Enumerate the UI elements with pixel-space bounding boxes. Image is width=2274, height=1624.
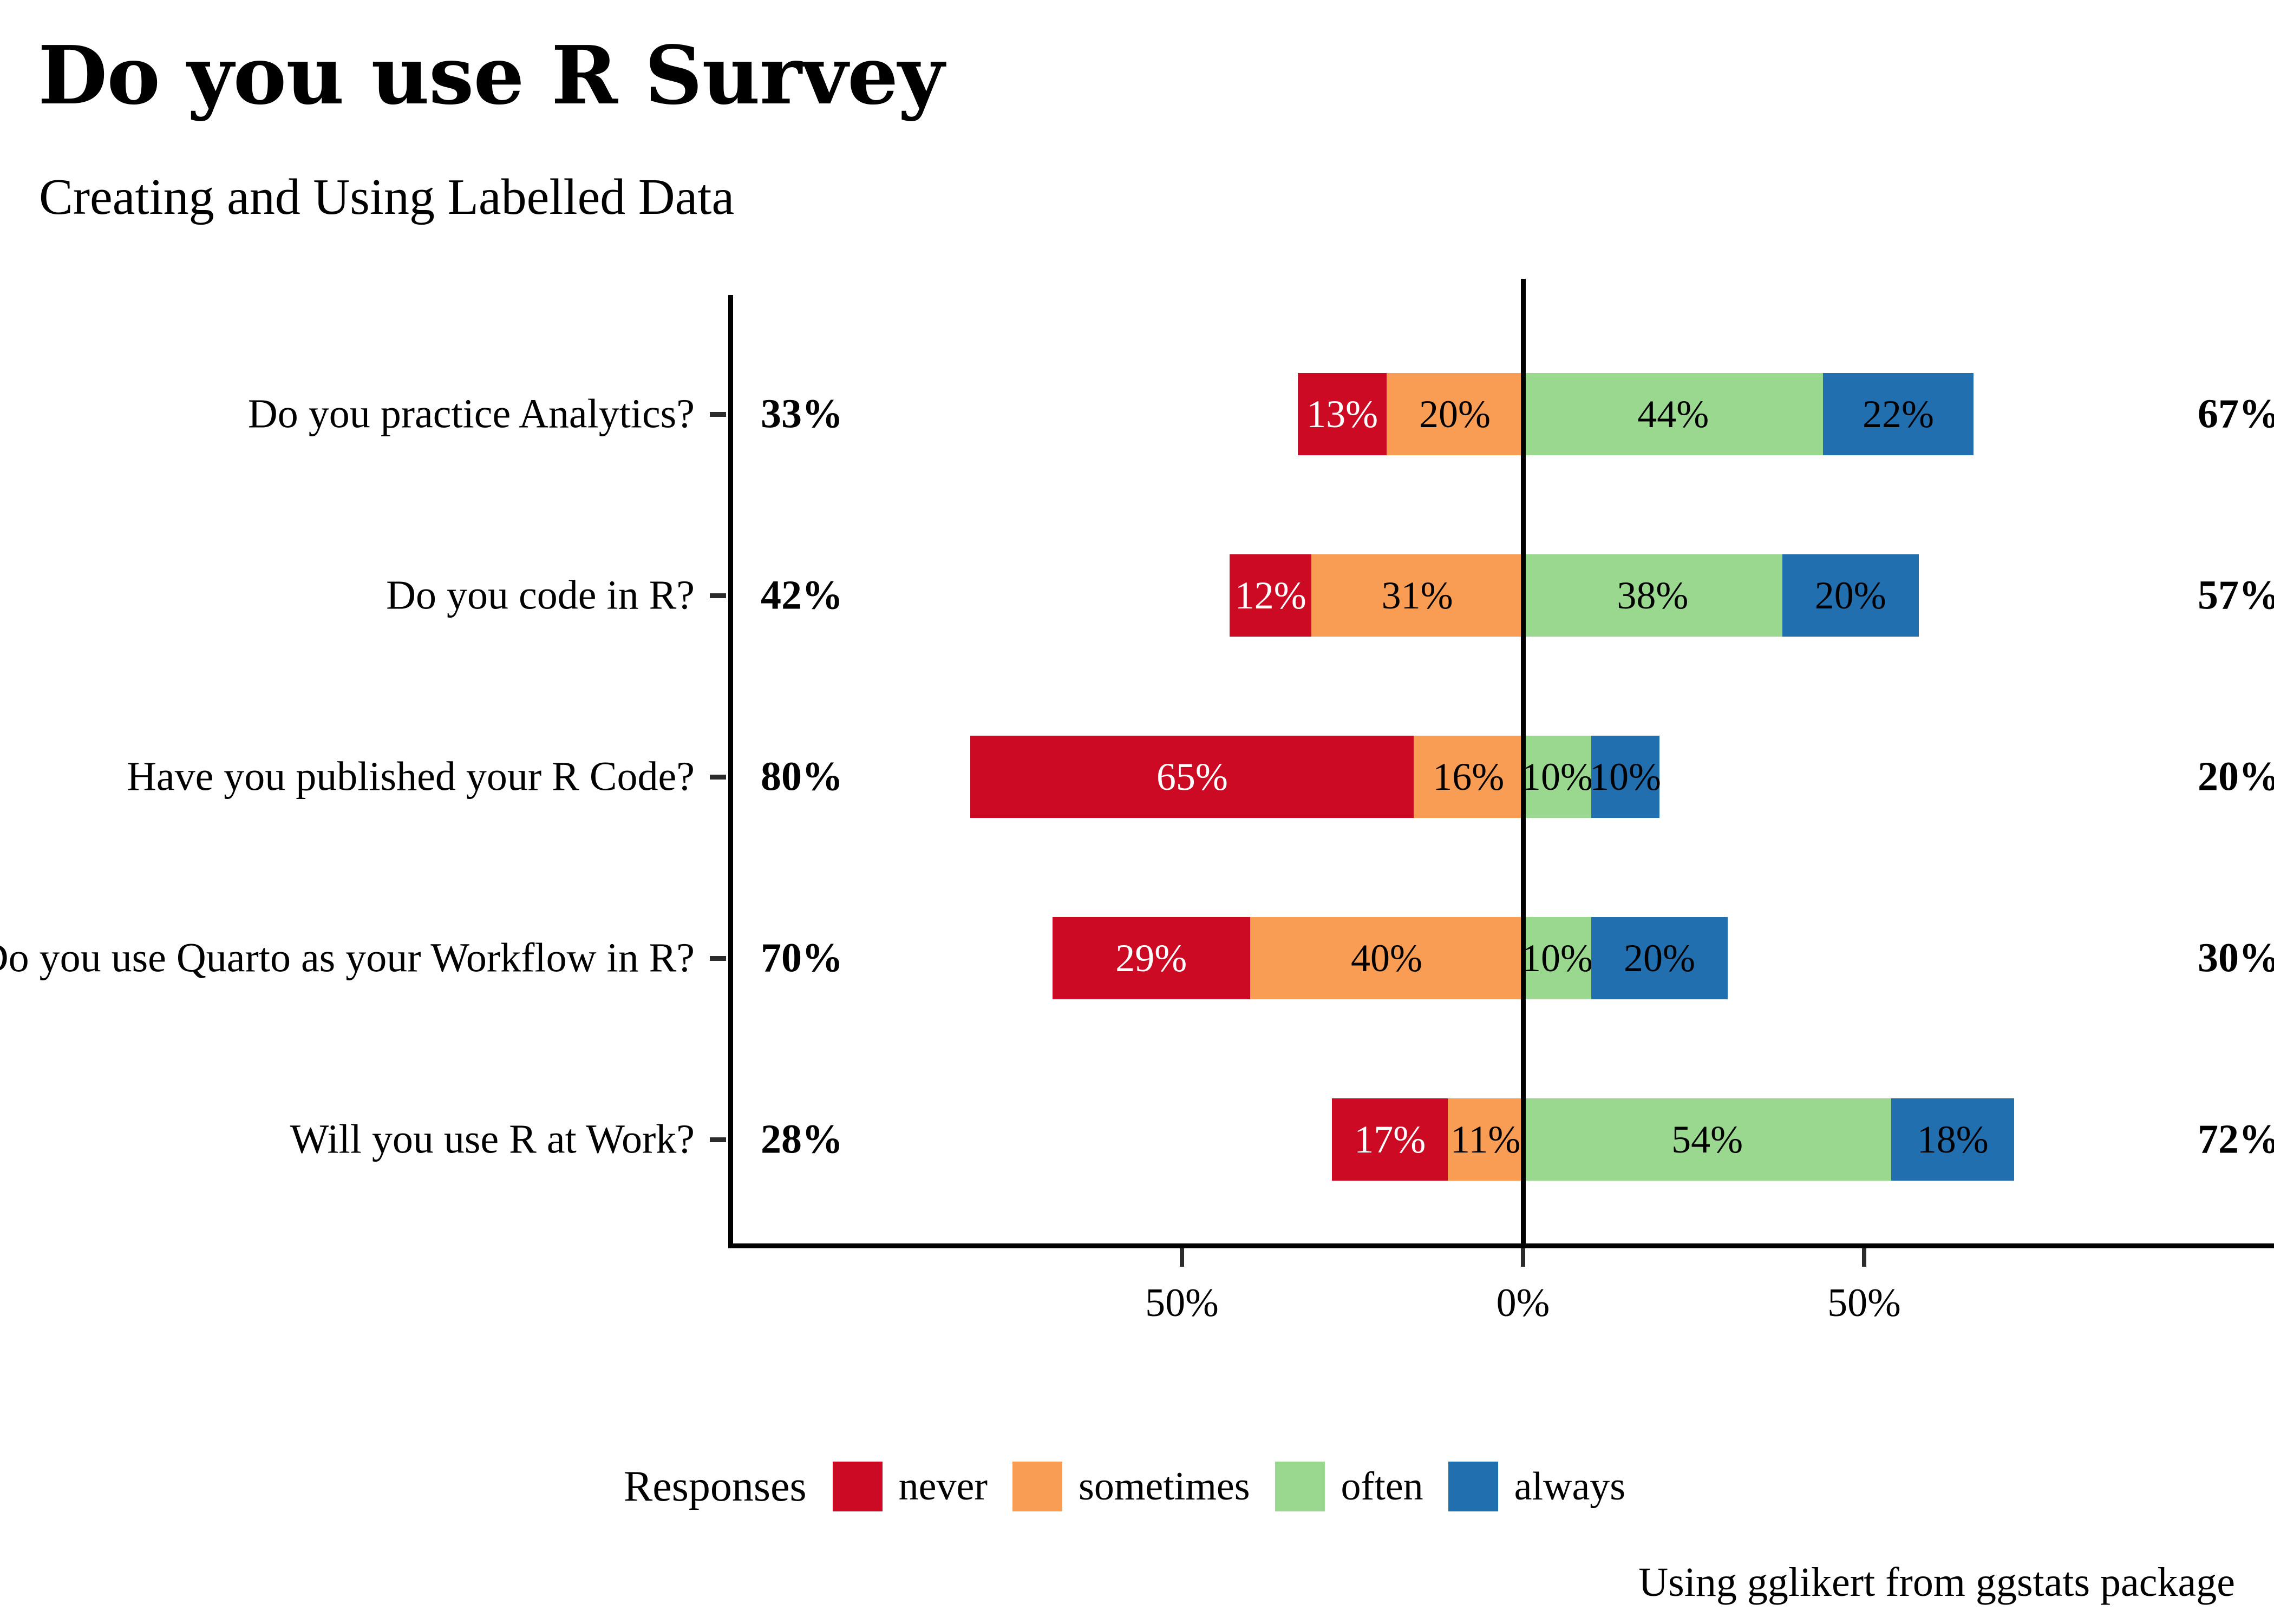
bar-segment-sometimes[interactable]: 20% [1387, 373, 1523, 455]
bar-segment-never[interactable]: 29% [1053, 917, 1250, 999]
y-axis-tick [710, 412, 726, 417]
legend-item-label: never [899, 1464, 988, 1510]
negative-total-label: 42% [761, 572, 843, 619]
x-axis-tick-label: 50% [1827, 1280, 1901, 1326]
page-subtitle: Creating and Using Labelled Data [39, 168, 734, 226]
bar-segment-often[interactable]: 38% [1523, 554, 1782, 637]
chart-legend: Responses neversometimesoftenalways [0, 1462, 2274, 1511]
legend-color-swatch [1448, 1462, 1498, 1511]
stacked-bar[interactable]: 17%11%54%18% [1332, 1098, 2014, 1181]
negative-total-label: 70% [761, 935, 843, 982]
stacked-bar[interactable]: 12%31%38%20% [1230, 554, 1919, 637]
bar-segment-never[interactable]: 65% [970, 736, 1414, 818]
x-axis-tick-label: 50% [1145, 1280, 1219, 1326]
bar-segment-always[interactable]: 18% [1891, 1098, 2014, 1181]
y-axis-line [728, 295, 733, 1248]
positive-total-label: 20% [2198, 754, 2274, 801]
positive-total-label: 30% [2198, 935, 2274, 982]
x-axis-tick-label: 0% [1497, 1280, 1550, 1326]
legend-item-always[interactable]: always [1448, 1462, 1626, 1511]
bar-segment-always[interactable]: 20% [1782, 554, 1919, 637]
positive-total-label: 67% [2198, 391, 2274, 438]
x-axis-tick [1862, 1248, 1866, 1267]
chart-caption: Using gglikert from ggstats package [1638, 1559, 2235, 1606]
y-axis-category-label: Will you use R at Work? [290, 1116, 695, 1163]
legend-color-swatch [1012, 1462, 1062, 1511]
bar-segment-sometimes[interactable]: 16% [1414, 736, 1523, 818]
x-axis-tick [1180, 1248, 1184, 1267]
page-title: Do you use R Survey [38, 28, 944, 122]
bar-segment-sometimes[interactable]: 40% [1250, 917, 1523, 999]
legend-item-often[interactable]: often [1275, 1462, 1423, 1511]
y-axis-category-label: Do you code in R? [386, 572, 695, 619]
bar-segment-often[interactable]: 54% [1523, 1098, 1891, 1181]
y-axis-tick [710, 775, 726, 780]
positive-total-label: 57% [2198, 572, 2274, 619]
bar-segment-often[interactable]: 10% [1523, 917, 1591, 999]
negative-total-label: 33% [761, 391, 843, 438]
legend-item-label: always [1514, 1464, 1626, 1510]
bar-segment-always[interactable]: 22% [1823, 373, 1973, 455]
legend-color-swatch [833, 1462, 883, 1511]
y-axis-tick [710, 1137, 726, 1142]
chart-panel: Do you practice Analytics?33%67%13%20%44… [728, 295, 2274, 1248]
negative-total-label: 80% [761, 754, 843, 801]
y-axis-category-label: Do you practice Analytics? [248, 391, 695, 438]
positive-total-label: 72% [2198, 1116, 2274, 1163]
stacked-bar[interactable]: 13%20%44%22% [1298, 373, 1973, 455]
stacked-bar[interactable]: 29%40%10%20% [1053, 917, 1728, 999]
legend-color-swatch [1275, 1462, 1325, 1511]
bar-segment-often[interactable]: 10% [1523, 736, 1591, 818]
legend-item-sometimes[interactable]: sometimes [1012, 1462, 1250, 1511]
stacked-bar[interactable]: 65%16%10%10% [970, 736, 1659, 818]
legend-item-never[interactable]: never [833, 1462, 988, 1511]
bar-segment-sometimes[interactable]: 11% [1448, 1098, 1523, 1181]
bar-segment-never[interactable]: 13% [1298, 373, 1387, 455]
bar-segment-never[interactable]: 12% [1230, 554, 1311, 637]
bar-segment-always[interactable]: 10% [1591, 736, 1659, 818]
bar-segment-often[interactable]: 44% [1523, 373, 1823, 455]
negative-total-label: 28% [761, 1116, 843, 1163]
x-axis-tick [1521, 1248, 1525, 1267]
y-axis-category-label: Have you published your R Code? [127, 754, 695, 801]
x-axis-line [728, 1243, 2274, 1248]
legend-item-label: sometimes [1079, 1464, 1250, 1510]
y-axis-tick [710, 593, 726, 598]
legend-title: Responses [624, 1462, 807, 1511]
bar-segment-never[interactable]: 17% [1332, 1098, 1448, 1181]
bar-segment-sometimes[interactable]: 31% [1311, 554, 1523, 637]
y-axis-tick [710, 956, 726, 961]
zero-reference-line [1521, 279, 1526, 1248]
y-axis-category-label: Do you use Quarto as your Workflow in R? [0, 935, 695, 982]
legend-items: neversometimesoftenalways [833, 1462, 1650, 1511]
bar-segment-always[interactable]: 20% [1591, 917, 1728, 999]
legend-item-label: often [1341, 1464, 1423, 1510]
